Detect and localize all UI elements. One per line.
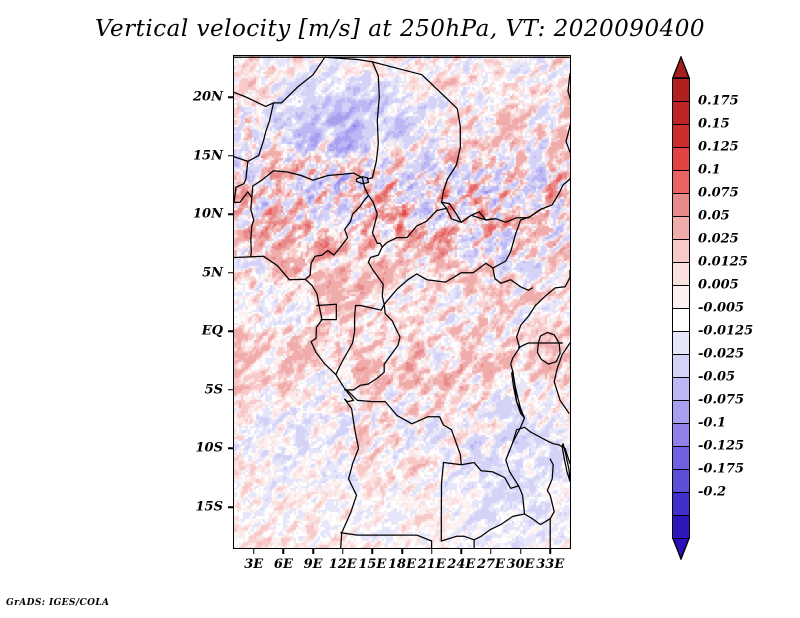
- x-axis-tick: [372, 548, 374, 554]
- y-axis-tick: [228, 272, 234, 274]
- colorbar-tick-label: -0.0125: [698, 324, 753, 339]
- colorbar-over-arrow: [672, 56, 690, 78]
- colorbar-tick-label: 0.1: [698, 163, 721, 178]
- colorbar-cell: [672, 193, 690, 217]
- x-axis-label: 21E: [418, 557, 446, 572]
- colorbar-cell: [672, 216, 690, 240]
- x-axis-tick: [490, 548, 492, 554]
- colorbar-cell: [672, 377, 690, 401]
- colorbar-cell: [672, 78, 690, 102]
- grads-attribution: GrADS: IGES/COLA: [6, 598, 109, 608]
- colorbar-cell: [672, 492, 690, 516]
- x-axis-label: 6E: [274, 557, 293, 572]
- y-axis-label: 5S: [0, 382, 223, 397]
- x-axis-tick: [253, 548, 255, 554]
- x-axis-label: 18E: [388, 557, 416, 572]
- colorbar-tick-label: 0.0125: [698, 255, 748, 270]
- y-axis-label: 10S: [0, 441, 223, 456]
- x-axis-label: 30E: [507, 557, 535, 572]
- colorbar-tick-label: -0.005: [698, 301, 744, 316]
- y-axis-tick: [228, 448, 234, 450]
- colorbar-tick-label: -0.05: [698, 370, 735, 385]
- colorbar-cell: [672, 308, 690, 332]
- x-axis-label: 15E: [358, 557, 386, 572]
- colorbar-cell: [672, 446, 690, 470]
- x-axis-label: 24E: [447, 557, 475, 572]
- y-axis-label: EQ: [0, 324, 223, 339]
- colorbar-tick-label: -0.025: [698, 347, 744, 362]
- colorbar-tick-label: 0.05: [698, 209, 730, 224]
- colorbar-tick-label: -0.1: [698, 416, 726, 431]
- y-axis-label: 15S: [0, 500, 223, 515]
- x-axis-tick: [401, 548, 403, 554]
- colorbar-tick-label: 0.175: [698, 94, 739, 109]
- colorbar-cell: [672, 124, 690, 148]
- x-axis-tick: [520, 548, 522, 554]
- y-axis-label: 5N: [0, 265, 223, 280]
- x-axis-label: 27E: [477, 557, 505, 572]
- y-axis-label: 15N: [0, 148, 223, 163]
- colorbar-cell: [672, 170, 690, 194]
- colorbar-tick-label: 0.005: [698, 278, 739, 293]
- x-axis-label: 33E: [536, 557, 564, 572]
- colorbar-under-arrow: [672, 538, 690, 560]
- y-axis-tick: [228, 389, 234, 391]
- x-axis-tick: [461, 548, 463, 554]
- colorbar-tick-label: 0.075: [698, 186, 739, 201]
- colorbar-cell: [672, 239, 690, 263]
- colorbar-tick-label: 0.125: [698, 140, 739, 155]
- colorbar-cell: [672, 469, 690, 493]
- x-axis-tick: [431, 548, 433, 554]
- colorbar-tick-label: 0.15: [698, 117, 730, 132]
- colorbar-cell: [672, 285, 690, 309]
- colorbar-cell: [672, 331, 690, 355]
- colorbar-tick-label: -0.2: [698, 485, 726, 500]
- y-axis-label: 10N: [0, 207, 223, 222]
- x-axis-tick: [342, 548, 344, 554]
- y-axis-tick: [228, 213, 234, 215]
- x-axis-tick: [283, 548, 285, 554]
- x-axis-tick: [549, 548, 551, 554]
- y-axis-tick: [228, 331, 234, 333]
- colorbar-tick-label: 0.025: [698, 232, 739, 247]
- x-axis-label: 12E: [329, 557, 357, 572]
- colorbar-tick-label: -0.075: [698, 393, 744, 408]
- colorbar-cell: [672, 101, 690, 125]
- colorbar-cell: [672, 354, 690, 378]
- colorbar-cell: [672, 147, 690, 171]
- y-axis-tick: [228, 96, 234, 98]
- y-axis-tick: [228, 506, 234, 508]
- colorbar: 0.1750.150.1250.10.0750.050.0250.01250.0…: [672, 56, 690, 560]
- colorbar-cell: [672, 262, 690, 286]
- colorbar-cell: [672, 400, 690, 424]
- y-axis-label: 20N: [0, 90, 223, 105]
- colorbar-cell: [672, 423, 690, 447]
- y-axis-tick: [228, 155, 234, 157]
- colorbar-tick-label: -0.175: [698, 462, 744, 477]
- x-axis-label: 3E: [244, 557, 263, 572]
- x-axis-label: 9E: [304, 557, 323, 572]
- x-axis-tick: [312, 548, 314, 554]
- colorbar-tick-label: -0.125: [698, 439, 744, 454]
- colorbar-cell: [672, 515, 690, 539]
